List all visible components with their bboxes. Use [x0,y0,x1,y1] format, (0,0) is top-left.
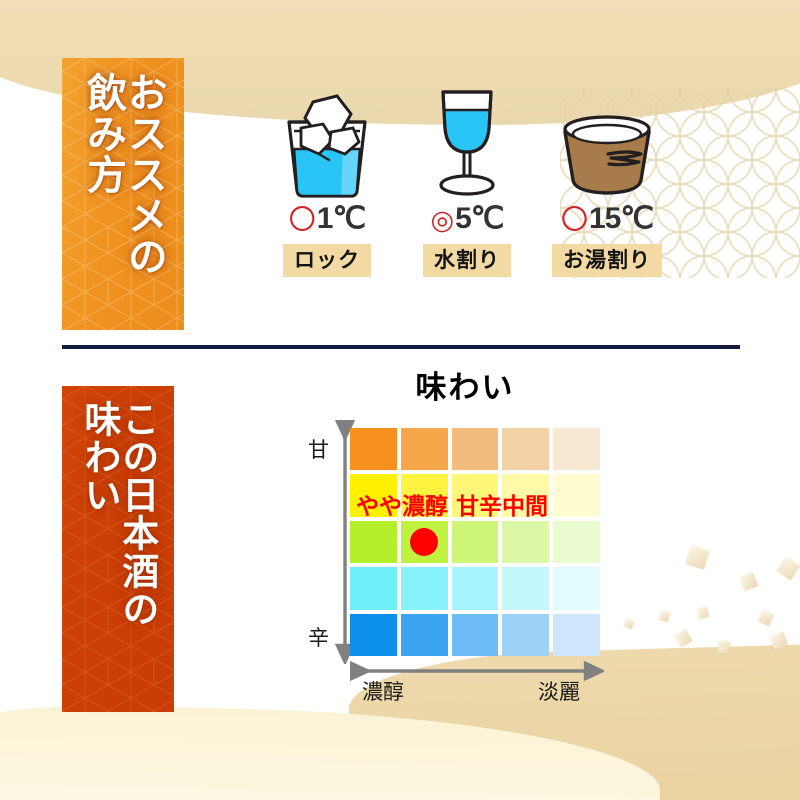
axis-label-rich: 濃醇 [362,682,404,703]
confetti-square [770,632,788,650]
section-divider [62,345,740,349]
taste-cell-r1-c2 [401,428,448,470]
confetti-square [659,611,670,622]
taste-cell-r3-c5 [553,521,600,563]
taste-cell-r5-c3 [452,614,499,656]
infographic-canvas: おススメの 飲み方 この日本酒の 味わい [0,0,800,800]
ceramic-cup-icon [553,96,661,200]
taste-cell-r4-c2 [401,567,448,609]
axis-label-light: 淡麗 [538,682,580,703]
temperature-value: 1℃ [317,204,365,234]
temperature-row: 〇 1℃ [262,204,392,234]
temperature-row: 〇 15℃ [542,204,672,234]
taste-grid [350,428,600,656]
banner-sake-taste: この日本酒の 味わい [62,386,174,712]
taste-chart: 味わい 甘 辛 やや濃醇 甘辛中間 濃醇 淡麗 [300,362,630,712]
serving-option-mizuwari[interactable]: ◎ 5℃ 水割り [402,82,532,292]
confetti-square [777,557,800,581]
confetti-square [717,640,731,654]
banner-recommended-serving: おススメの 飲み方 [62,58,184,330]
confetti-square [740,573,758,591]
drink-artwork [262,82,392,200]
axis-label-dry: 辛 [308,628,329,649]
banner-column-left: 飲み方 [82,72,123,195]
taste-cell-r4-c4 [502,567,549,609]
banner-column-right: おススメの [123,72,164,277]
taste-cell-r1-c5 [553,428,600,470]
rocks-glass-icon [275,88,379,200]
confetti-square [675,630,693,648]
temperature-value: 5℃ [455,204,503,234]
banner-column-left: 味わい [80,400,118,514]
banner-text-columns: この日本酒の 味わい [62,386,174,712]
taste-cell-r4-c1 [350,567,397,609]
taste-cell-r3-c4 [502,521,549,563]
taste-cell-r1-c4 [502,428,549,470]
confetti-square [758,610,774,626]
serving-option-rocks[interactable]: 〇 1℃ ロック [262,82,392,292]
taste-cell-r1-c1 [350,428,397,470]
circle-mark-icon: 〇 [289,207,316,234]
confetti-square [686,546,710,570]
taste-cell-r5-c5 [553,614,600,656]
temperature-row: ◎ 5℃ [402,204,532,234]
serving-option-oyuwari[interactable]: 〇 15℃ お湯割り [542,82,672,292]
serving-label-chip: 水割り [423,244,511,277]
x-axis-arrow-icon [350,660,604,682]
axis-label-sweet: 甘 [308,440,329,461]
taste-cell-r4-c5 [553,567,600,609]
taste-cell-r4-c3 [452,567,499,609]
temperature-value: 15℃ [589,204,653,234]
drink-artwork [402,82,532,200]
taste-cell-r1-c3 [452,428,499,470]
taste-marker-label: やや濃醇 甘辛中間 [356,496,548,519]
taste-cell-r5-c2 [401,614,448,656]
chart-title: 味わい [300,362,630,407]
taste-cell-r3-c1 [350,521,397,563]
circle-mark-icon: 〇 [561,207,588,234]
wine-glass-icon [419,82,515,200]
serving-label-chip: ロック [283,244,371,277]
confetti-square [697,607,709,619]
drink-artwork [542,82,672,200]
taste-cell-r3-c3 [452,521,499,563]
taste-cell-r2-c5 [553,474,600,516]
bottom-cream-band [0,703,661,800]
serving-label-chip: お湯割り [552,244,662,277]
serving-options-group: 〇 1℃ ロック ◎ 5℃ 水割り [262,82,672,292]
banner-text-columns: おススメの 飲み方 [62,58,184,330]
taste-marker-dot [410,528,438,556]
banner-column-right: この日本酒の [118,400,156,628]
double-circle-mark-icon: ◎ [431,207,455,234]
taste-cell-r5-c1 [350,614,397,656]
taste-cell-r5-c4 [502,614,549,656]
